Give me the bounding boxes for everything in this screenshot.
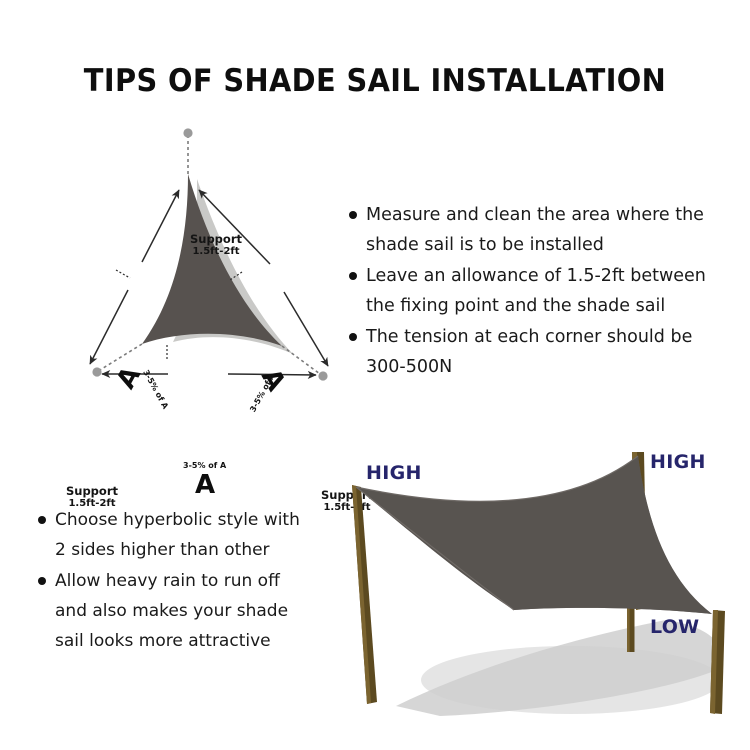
list-item: Leave an allowance of 1.5-2ft between th…	[349, 261, 729, 321]
list-item-text: The tension at each corner should be 300…	[366, 322, 692, 382]
list-item-line: 300-500N	[366, 352, 692, 382]
list-item: Measure and clean the area where the sha…	[349, 200, 729, 260]
list-item-line: and also makes your shade	[55, 596, 288, 626]
list-item: Allow heavy rain to run off and also mak…	[38, 566, 348, 656]
bullet-dot-icon	[349, 333, 357, 341]
list-item-text: Choose hyperbolic style with 2 sides hig…	[55, 505, 300, 565]
support-dot-top	[183, 128, 192, 137]
list-item: The tension at each corner should be 300…	[349, 322, 729, 382]
bullet-dot-icon	[349, 272, 357, 280]
hyperbolic-style-list: Choose hyperbolic style with 2 sides hig…	[38, 505, 348, 657]
bullet-dot-icon	[38, 577, 46, 585]
list-item-line: 2 sides higher than other	[55, 535, 300, 565]
bullet-dot-icon	[349, 211, 357, 219]
support-dot-right	[318, 371, 327, 380]
list-item-line: Allow heavy rain to run off	[55, 566, 288, 596]
list-item: Choose hyperbolic style with 2 sides hig…	[38, 505, 348, 565]
support-title: Support	[52, 485, 132, 498]
list-item-text: Allow heavy rain to run off and also mak…	[55, 566, 288, 656]
dim-arrow-left-upper	[142, 190, 179, 262]
list-item-text: Leave an allowance of 1.5-2ft between th…	[366, 261, 706, 321]
sail-label-low-right: LOW	[650, 616, 699, 638]
list-item-line: sail looks more attractive	[55, 626, 288, 656]
support-title: Support	[176, 233, 256, 246]
bullet-dot-icon	[38, 516, 46, 524]
support-dot-left	[92, 367, 101, 376]
sag-tick-left	[116, 270, 130, 278]
list-item-line: Choose hyperbolic style with	[55, 505, 300, 535]
sail-label-high-right: HIGH	[650, 451, 706, 473]
list-item-line: the fixing point and the shade sail	[366, 291, 706, 321]
page-title: TIPS OF SHADE SAIL INSTALLATION	[26, 63, 724, 99]
post-left	[352, 485, 377, 704]
list-item-line: shade sail is to be installed	[366, 230, 704, 260]
list-item-text: Measure and clean the area where the sha…	[366, 200, 704, 260]
infographic-page: TIPS OF SHADE SAIL INSTALLATION	[0, 0, 750, 750]
sail-label-high-left: HIGH	[366, 462, 422, 484]
dim-arrow-left-lower	[90, 290, 128, 364]
dim-arrow-right-lower	[284, 292, 328, 366]
list-item-line: Measure and clean the area where the	[366, 200, 704, 230]
installation-tips-list: Measure and clean the area where the sha…	[349, 200, 729, 383]
support-value: 1.5ft-2ft	[176, 246, 256, 257]
sag-label-bottom: 3-5% of A	[183, 461, 226, 470]
triangle-diagram-svg	[16, 112, 346, 412]
support-line-right	[282, 346, 320, 374]
support-label-top: Support 1.5ft-2ft	[176, 233, 256, 257]
post-middle	[627, 602, 635, 652]
list-item-line: The tension at each corner should be	[366, 322, 692, 352]
dimension-label-bottom: A	[195, 470, 215, 500]
ground-shadow-soft	[421, 646, 721, 714]
triangle-sail-diagram: Support 1.5ft-2ft Support 1.5ft-2ft Supp…	[16, 112, 346, 412]
post-right-front	[710, 610, 725, 714]
list-item-line: Leave an allowance of 1.5-2ft between	[366, 261, 706, 291]
